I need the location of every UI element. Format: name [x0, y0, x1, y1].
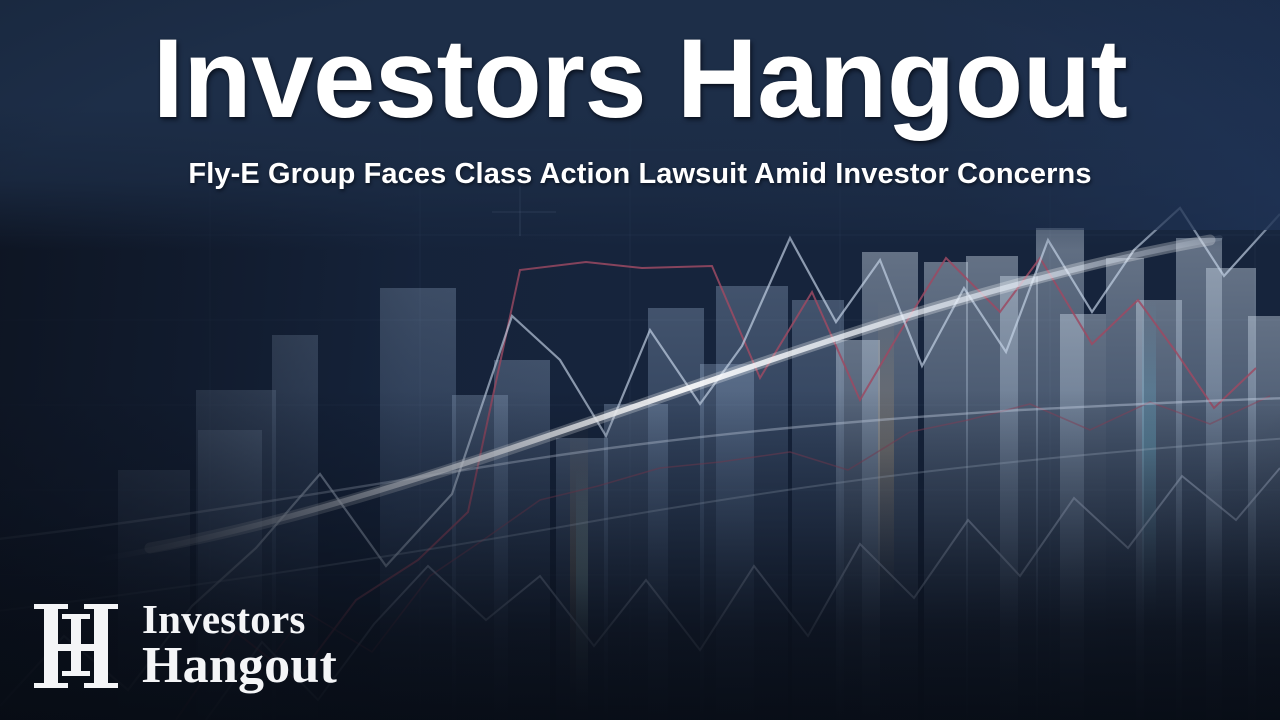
banner-header: Investors Hangout Fly-E Group Faces Clas… — [0, 0, 1280, 192]
brand-logo-line-1: Investors — [142, 600, 337, 639]
ih-monogram-icon — [28, 600, 124, 692]
brand-logo[interactable]: Investors Hangout — [28, 600, 337, 692]
brand-logo-wordmark: Investors Hangout — [142, 600, 337, 691]
brand-logo-line-2: Hangout — [142, 640, 337, 692]
site-title: Investors Hangout — [0, 0, 1280, 141]
article-headline: Fly-E Group Faces Class Action Lawsuit A… — [0, 141, 1280, 192]
promo-banner: Investors Hangout Fly-E Group Faces Clas… — [0, 0, 1280, 720]
